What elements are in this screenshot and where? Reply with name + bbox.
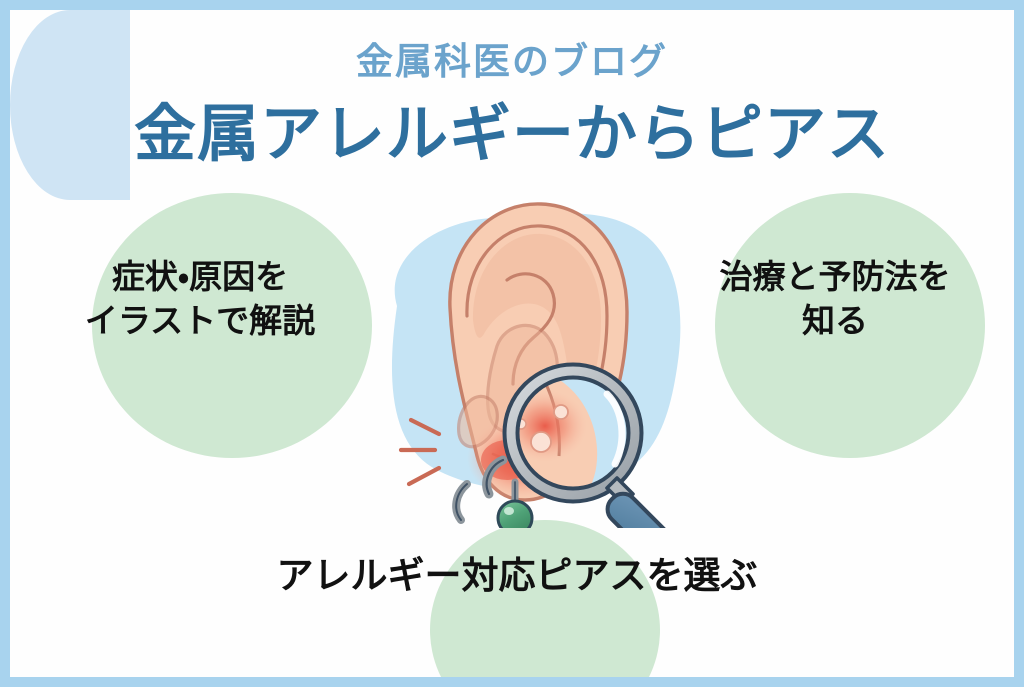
caption-choose-earrings: アレルギー対応ピアスを選ぶ (232, 552, 802, 601)
ear-illustration (355, 188, 695, 528)
poster-root: 金属科医のブログ 金属アレルギーからピアス (0, 0, 1024, 687)
poster-title: 金属アレルギーからピアス (10, 98, 1014, 169)
caption-treatment: 治療と予防法を 知る (675, 255, 995, 342)
poster-canvas: 金属科医のブログ 金属アレルギーからピアス (10, 10, 1014, 677)
caption-symptoms: 症状・原因を イラストで解説 (40, 255, 360, 342)
poster-subtitle: 金属科医のブログ (10, 42, 1014, 83)
